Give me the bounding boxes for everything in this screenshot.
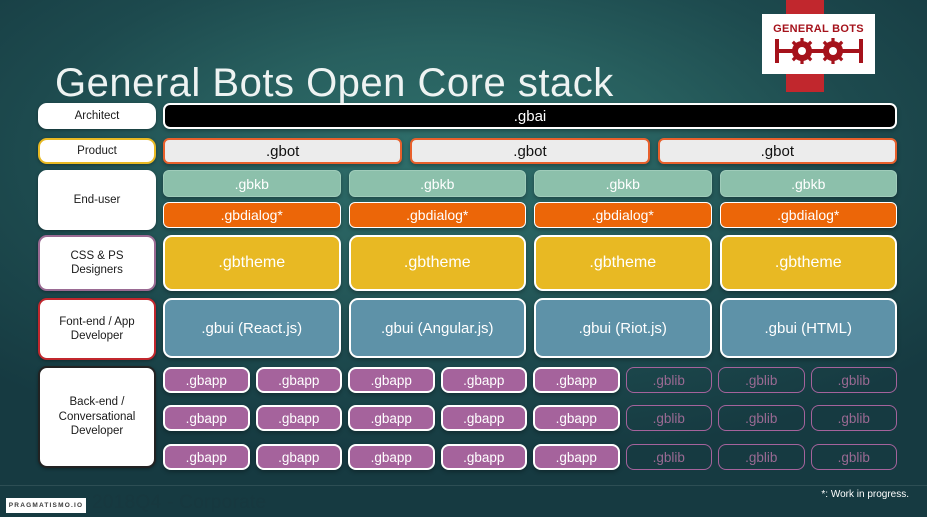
role-label-4: CSS & PSDesigners [38,235,156,291]
stack-cell-gbkb-4-label: .gbkb [791,176,825,192]
stack-cell-gbapp-r3c1[interactable]: .gbapp [163,444,250,470]
stack-cell-gbdialog-3-label: .gbdialog* [592,207,654,223]
stack-cell-gbui-4-label: .gbui (HTML) [764,320,852,337]
stack-cell-gblib-r3c1-label: .gblib [653,450,685,465]
role-label-2: Product [38,138,156,164]
stack-cell-gbapp-r3c2[interactable]: .gbapp [256,444,343,470]
stack-cell-gbapp-r3c4[interactable]: .gbapp [441,444,528,470]
role-label-text: Back-end /ConversationalDeveloper [59,395,136,438]
stack-cell-gbot-3[interactable]: .gbot [658,138,897,164]
stack-cell-gbdialog-2-label: .gbdialog* [406,207,468,223]
stack-cell-gbkb-1-label: .gbkb [235,176,269,192]
stack-cell-gbapp-r2c2[interactable]: .gbapp [256,405,343,431]
stack-cell-gblib-r3c3-label: .gblib [838,450,870,465]
footer-divider [0,485,927,486]
stack-cell-gbui-1-label: .gbui (React.js) [201,320,302,337]
stack-cell-gbtheme-1-label: .gbtheme [218,254,285,272]
stack-cell-gblib-r2c2[interactable]: .gblib [718,405,805,431]
stack-cell-gbapp-r3c5[interactable]: .gbapp [533,444,620,470]
stack-cell-gbdialog-1-label: .gbdialog* [221,207,283,223]
stack-cell-gbui-3[interactable]: .gbui (Riot.js) [534,298,712,358]
stack-cell-gbapp-r3c3[interactable]: .gbapp [348,444,435,470]
role-label-5: Font-end / AppDeveloper [38,298,156,360]
stack-cell-gbapp-r3c2-label: .gbapp [278,450,319,465]
stack-cell-gbdialog-2[interactable]: .gbdialog* [349,202,527,228]
stack-cell-gbapp-r1c4-label: .gbapp [463,373,504,388]
stack-cell-gbtheme-4[interactable]: .gbtheme [720,235,898,291]
stack-cell-gblib-r1c3[interactable]: .gblib [811,367,898,393]
stack-cell-gblib-r1c2-label: .gblib [745,373,777,388]
stack-cell-gbapp-r1c1-label: .gbapp [186,373,227,388]
role-label-text: CSS & PSDesigners [70,249,123,278]
stack-cell-gblib-r3c2[interactable]: .gblib [718,444,805,470]
stack-cell-gbapp-r1c5[interactable]: .gbapp [533,367,620,393]
role-label-1: Architect [38,103,156,129]
stack-cell-gbkb-3-label: .gbkb [606,176,640,192]
logo-wordmark: GENERAL BOTS [773,23,864,35]
stack-cell-gblib-r3c3[interactable]: .gblib [811,444,898,470]
stack-cell-gbapp-r1c3[interactable]: .gbapp [348,367,435,393]
stack-cell-gbapp-r2c1-label: .gbapp [186,411,227,426]
role-label-text: End-user [74,193,121,207]
stack-cell-gblib-r2c3[interactable]: .gblib [811,405,898,431]
stack-cell-gbtheme-3[interactable]: .gbtheme [534,235,712,291]
stack-cell-gbtheme-1[interactable]: .gbtheme [163,235,341,291]
page-title: General Bots Open Core stack [55,61,614,106]
stack-cell-gbui-3-label: .gbui (Riot.js) [579,320,667,337]
stack-cell-gbapp-r1c5-label: .gbapp [556,373,597,388]
stack-cell-gbot-1-label: .gbot [266,143,299,160]
stack-cell-gbapp-r1c1[interactable]: .gbapp [163,367,250,393]
slide-canvas: GENERAL BOTS [0,0,927,517]
stack-cell-gbdialog-3[interactable]: .gbdialog* [534,202,712,228]
stack-cell-gbapp-r2c4[interactable]: .gbapp [441,405,528,431]
stack-cell-gbapp-r1c4[interactable]: .gbapp [441,367,528,393]
role-label-6: Back-end /ConversationalDeveloper [38,366,156,468]
stack-cell-gbapp-r2c5-label: .gbapp [556,411,597,426]
stack-cell-gbtheme-4-label: .gbtheme [775,254,842,272]
stack-cell-gbot-2[interactable]: .gbot [410,138,649,164]
stack-cell-gbai[interactable]: .gbai [163,103,897,129]
stack-cell-gblib-r1c3-label: .gblib [838,373,870,388]
role-label-text: Product [77,144,117,158]
role-label-text: Architect [75,109,120,123]
stack-cell-gbot-1[interactable]: .gbot [163,138,402,164]
stack-cell-gbapp-r3c1-label: .gbapp [186,450,227,465]
general-bots-logo: GENERAL BOTS [762,14,875,74]
gears-logo-icon [771,37,867,65]
stack-cell-gbui-1[interactable]: .gbui (React.js) [163,298,341,358]
footer-caption: 2018Q4 - Corporate [92,492,266,514]
stack-cell-gbapp-r1c2[interactable]: .gbapp [256,367,343,393]
stack-cell-gblib-r2c1[interactable]: .gblib [626,405,713,431]
stack-cell-gbkb-3[interactable]: .gbkb [534,170,712,197]
stack-cell-gbdialog-4-label: .gbdialog* [777,207,839,223]
stack-cell-gbtheme-2[interactable]: .gbtheme [349,235,527,291]
stack-cell-gblib-r1c1-label: .gblib [653,373,685,388]
stack-cell-gbapp-r3c4-label: .gbapp [463,450,504,465]
stack-cell-gbapp-r3c5-label: .gbapp [556,450,597,465]
stack-cell-gbapp-r2c1[interactable]: .gbapp [163,405,250,431]
stack-cell-gbui-2[interactable]: .gbui (Angular.js) [349,298,527,358]
stack-cell-gbui-2-label: .gbui (Angular.js) [381,320,494,337]
stack-cell-gbapp-r2c2-label: .gbapp [278,411,319,426]
stack-cell-gbkb-2-label: .gbkb [420,176,454,192]
stack-cell-gbtheme-2-label: .gbtheme [404,254,471,272]
stack-cell-gbapp-r1c3-label: .gbapp [371,373,412,388]
pragmatismo-logo: PRAGMATISMO.IO [6,498,86,513]
stack-cell-gbdialog-4[interactable]: .gbdialog* [720,202,898,228]
stack-cell-gbapp-r2c5[interactable]: .gbapp [533,405,620,431]
stack-cell-gblib-r3c1[interactable]: .gblib [626,444,713,470]
stack-cell-gbapp-r1c2-label: .gbapp [278,373,319,388]
stack-cell-gblib-r2c3-label: .gblib [838,411,870,426]
stack-cell-gbkb-1[interactable]: .gbkb [163,170,341,197]
stack-cell-gbtheme-3-label: .gbtheme [589,254,656,272]
role-label-3: End-user [38,170,156,230]
stack-cell-gbapp-r2c4-label: .gbapp [463,411,504,426]
work-in-progress-note: *: Work in progress. [821,489,909,500]
stack-cell-gbdialog-1[interactable]: .gbdialog* [163,202,341,228]
stack-cell-gblib-r1c1[interactable]: .gblib [626,367,713,393]
stack-cell-gbai-label: .gbai [514,108,547,125]
stack-cell-gbot-3-label: .gbot [761,143,794,160]
stack-cell-gblib-r1c2[interactable]: .gblib [718,367,805,393]
stack-cell-gbapp-r2c3-label: .gbapp [371,411,412,426]
role-label-text: Font-end / AppDeveloper [59,315,134,344]
pragmatismo-label: PRAGMATISMO.IO [9,502,83,509]
stack-cell-gbkb-2[interactable]: .gbkb [349,170,527,197]
stack-cell-gblib-r2c1-label: .gblib [653,411,685,426]
stack-cell-gblib-r2c2-label: .gblib [745,411,777,426]
stack-cell-gbui-4[interactable]: .gbui (HTML) [720,298,898,358]
stack-cell-gbot-2-label: .gbot [513,143,546,160]
stack-cell-gbapp-r3c3-label: .gbapp [371,450,412,465]
stack-cell-gbkb-4[interactable]: .gbkb [720,170,898,197]
stack-cell-gblib-r3c2-label: .gblib [745,450,777,465]
stack-cell-gbapp-r2c3[interactable]: .gbapp [348,405,435,431]
